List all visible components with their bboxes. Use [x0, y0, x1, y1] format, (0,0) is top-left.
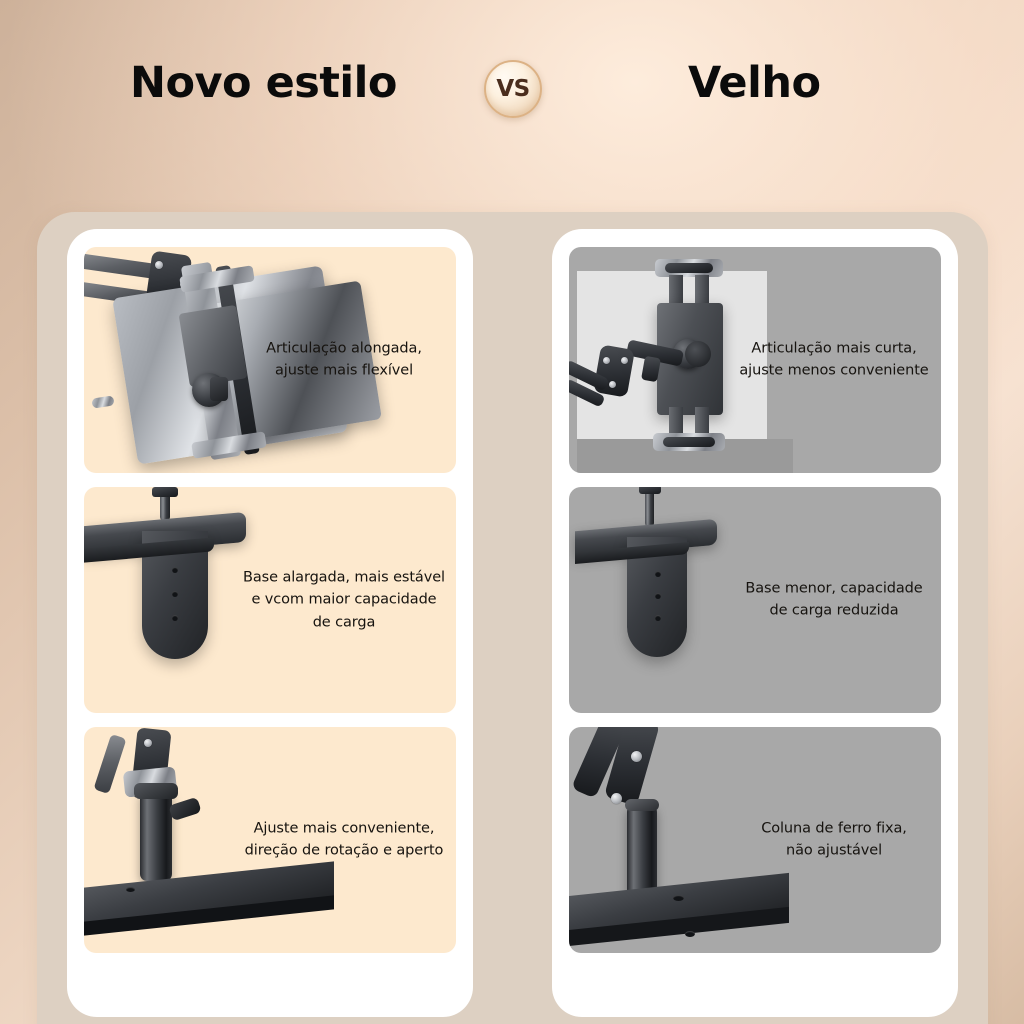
feature-caption: Articulação mais curta, ajuste menos con… [729, 338, 939, 383]
feature-caption: Articulação alongada, ajuste mais flexív… [240, 338, 448, 383]
feature-caption: Base alargada, mais estável e vcom maior… [240, 566, 448, 633]
new-style-column: Articulação alongada, ajuste mais flexív… [67, 229, 473, 1017]
old-feature-card-base: Base menor, capacidade de carga reduzida [569, 487, 941, 713]
new-feature-card-articulation: Articulação alongada, ajuste mais flexív… [84, 247, 456, 473]
vs-badge: VS [484, 60, 542, 118]
header: Novo estilo VS Velho [0, 0, 1024, 185]
comparison-infographic: Novo estilo VS Velho [0, 0, 1024, 1024]
comparison-panel: Articulação alongada, ajuste mais flexív… [37, 212, 988, 1024]
new-feature-card-base: Base alargada, mais estável e vcom maior… [84, 487, 456, 713]
old-feature-card-column: Coluna de ferro fixa, não ajustável [569, 727, 941, 953]
feature-caption: Coluna de ferro fixa, não ajustável [729, 818, 939, 863]
old-feature-card-articulation: Articulação mais curta, ajuste menos con… [569, 247, 941, 473]
new-style-title: Novo estilo [130, 62, 397, 105]
vs-badge-label: VS [496, 78, 529, 101]
new-feature-card-column: Ajuste mais conveniente, direção de rota… [84, 727, 456, 953]
feature-caption: Base menor, capacidade de carga reduzida [729, 578, 939, 623]
feature-caption: Ajuste mais conveniente, direção de rota… [240, 818, 448, 863]
old-style-column: Articulação mais curta, ajuste menos con… [552, 229, 958, 1017]
old-style-title: Velho [688, 62, 820, 105]
